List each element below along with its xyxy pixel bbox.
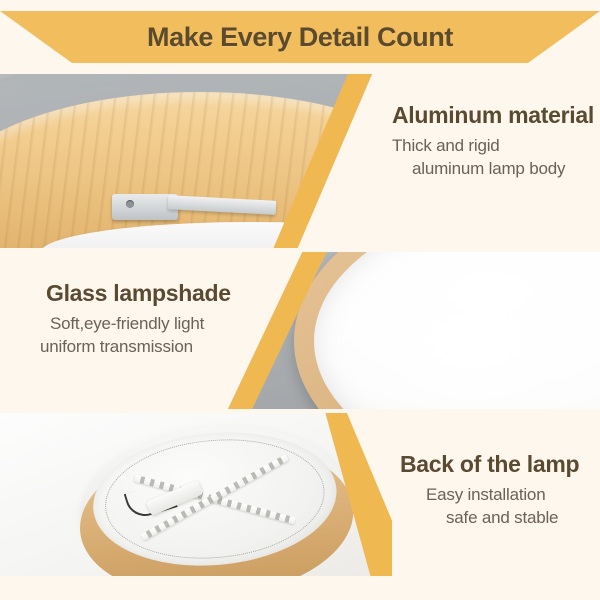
section-title-aluminum-material: Aluminum material xyxy=(392,102,594,129)
text-block-aluminum-material: Aluminum material Thick and rigid alumin… xyxy=(392,102,594,181)
text-block-glass-lampshade: Glass lampshade Soft,eye-friendly light … xyxy=(40,280,231,359)
screw-icon xyxy=(126,200,134,208)
section-glass-lampshade: Glass lampshade Soft,eye-friendly light … xyxy=(0,252,600,409)
header-banner: Make Every Detail Count xyxy=(0,11,600,63)
glass-diffuser xyxy=(314,252,600,409)
section-title-back-of-the-lamp: Back of the lamp xyxy=(400,451,579,478)
section-line-1-back-of-the-lamp: Easy installation xyxy=(400,484,579,507)
section-line-2-aluminum-material: aluminum lamp body xyxy=(392,158,594,181)
glass-highlight xyxy=(387,282,564,400)
product-infographic: Make Every Detail Count Aluminum materia… xyxy=(0,0,600,600)
page-title: Make Every Detail Count xyxy=(0,11,600,63)
lamp-wood-ring xyxy=(294,252,600,409)
section-line-2-back-of-the-lamp: safe and stable xyxy=(400,507,579,530)
section-back-of-the-lamp: Back of the lamp Easy installation safe … xyxy=(0,413,600,576)
section-line-1-glass-lampshade: Soft,eye-friendly light xyxy=(40,313,231,336)
section-line-1-aluminum-material: Thick and rigid xyxy=(392,135,594,158)
section-aluminum-material: Aluminum material Thick and rigid alumin… xyxy=(0,74,600,248)
text-block-back-of-the-lamp: Back of the lamp Easy installation safe … xyxy=(400,451,579,530)
section-line-2-glass-lampshade: uniform transmission xyxy=(40,336,231,359)
section-title-glass-lampshade: Glass lampshade xyxy=(40,280,231,307)
